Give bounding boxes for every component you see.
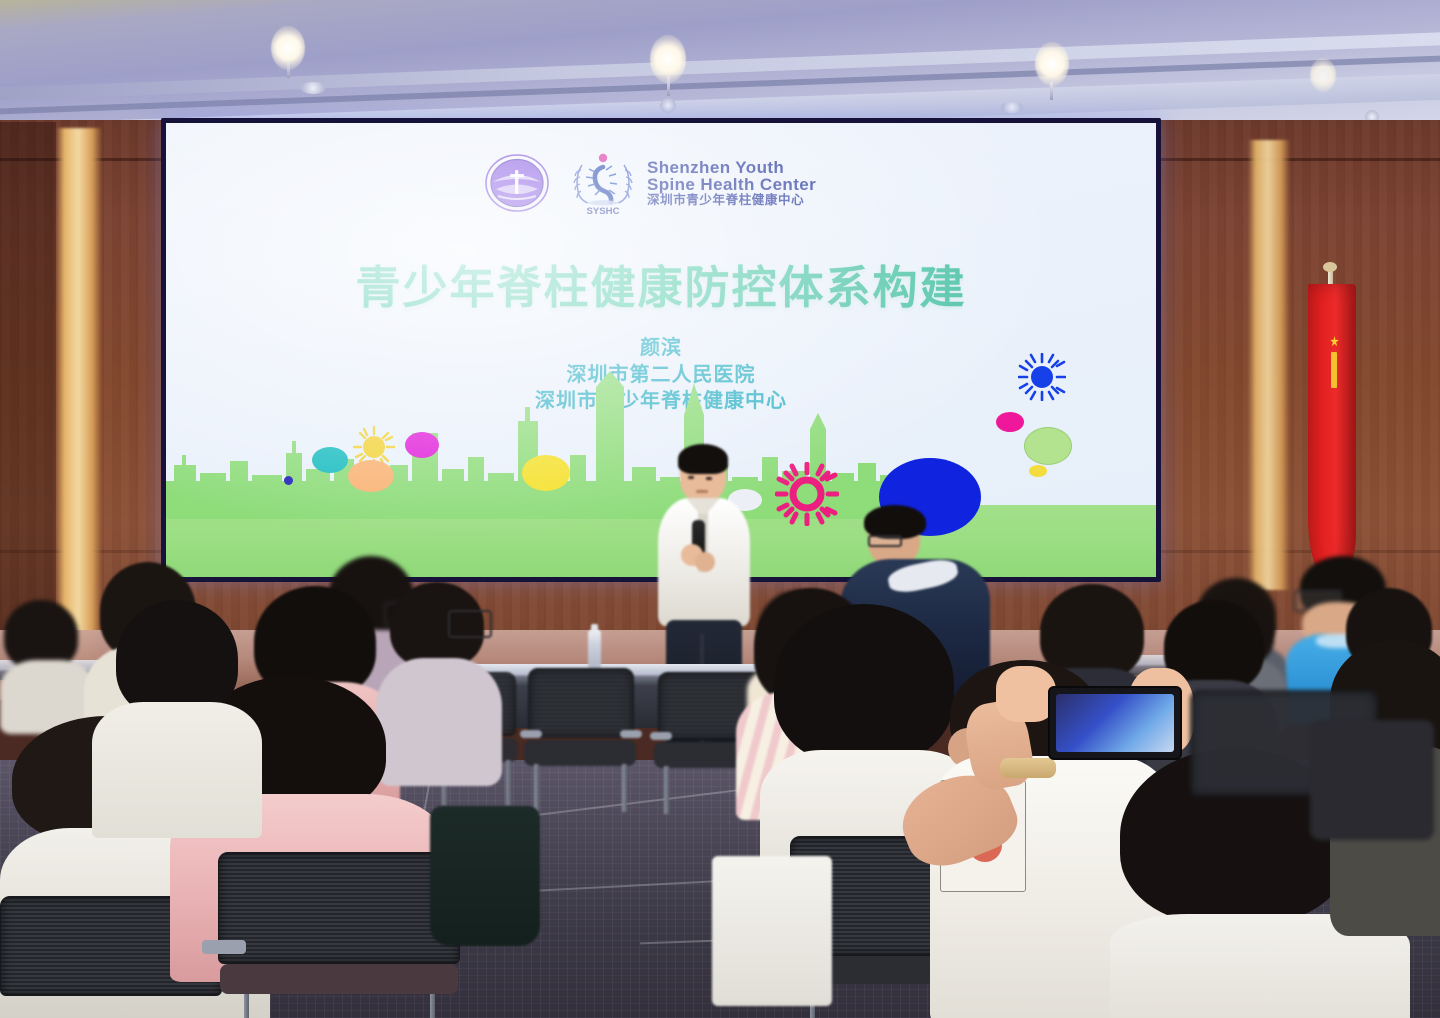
chair-leg-left xyxy=(534,764,539,812)
navy-jacket-glasses xyxy=(868,535,902,547)
ceiling-downlight-3 xyxy=(1035,42,1069,86)
glasses xyxy=(448,610,492,638)
ceiling-downlight-4 xyxy=(1310,58,1336,92)
conference-photo: SYSHC Shenzhen Youth Spine Health Center… xyxy=(0,0,1440,1018)
deco-pink-burst-ring xyxy=(775,462,839,526)
syshc-name-en-line2: Spine Health Center xyxy=(647,176,816,193)
chair-arm-left xyxy=(650,732,672,740)
paper-bag xyxy=(712,856,832,1006)
ceiling xyxy=(0,0,1440,128)
downlight-stalk-2 xyxy=(667,76,670,96)
chair-back xyxy=(528,668,634,738)
presenter-name: 颜滨 xyxy=(166,335,1156,362)
chair-back xyxy=(218,852,460,964)
chair-leg-right xyxy=(506,760,511,806)
chair-seat xyxy=(524,740,636,766)
water-bottle-1 xyxy=(588,630,601,670)
deco-green-oval xyxy=(1024,427,1072,465)
slide-logo-row: SYSHC Shenzhen Youth Spine Health Center… xyxy=(484,151,816,215)
wall-light-strip-right xyxy=(1248,140,1290,590)
syshc-text-block: Shenzhen Youth Spine Health Center 深圳市青少… xyxy=(647,159,816,207)
flag-pole-finial xyxy=(1323,262,1337,272)
chair-leg-left xyxy=(664,766,669,814)
chinese-national-flag xyxy=(1308,284,1356,576)
flag-star-small-group xyxy=(1331,352,1337,388)
syshc-emblem-icon: SYSHC xyxy=(566,151,640,215)
phone-screen-preview[interactable] xyxy=(1056,694,1174,752)
chair-leg xyxy=(244,994,249,1018)
speaker-hand-right xyxy=(695,552,715,572)
chair-leg-right xyxy=(622,764,627,812)
downlight-stalk-3 xyxy=(1050,82,1053,100)
hair xyxy=(116,600,238,718)
speaker-eye-left xyxy=(688,476,694,479)
ceiling-downlight-small-3 xyxy=(1000,102,1024,113)
hair xyxy=(774,604,954,764)
syshc-name-en-line1: Shenzhen Youth xyxy=(647,159,816,176)
slide-title: 青少年脊柱健康防控体系构建 xyxy=(166,251,1156,316)
chair-arm-left xyxy=(520,730,542,738)
svg-text:SYSHC: SYSHC xyxy=(586,206,619,215)
deco-blue-sunburst xyxy=(1018,353,1066,401)
deco-orange-dot xyxy=(348,460,394,492)
deco-teal-dot xyxy=(312,447,348,473)
ceiling-downlight-small-1 xyxy=(300,82,326,94)
deco-navy-small-dot xyxy=(284,476,293,485)
deco-yellow-small xyxy=(1029,465,1047,477)
deco-yellow-blob xyxy=(522,455,570,491)
wall-shadow-left xyxy=(0,122,56,682)
downlight-stalk-1 xyxy=(287,62,290,78)
deco-magenta-oval xyxy=(996,412,1024,432)
torso xyxy=(92,702,262,838)
navy-jacket-hair xyxy=(864,505,926,539)
wrist-bracelet xyxy=(1000,758,1056,778)
bag-right xyxy=(1310,720,1434,840)
hospital-emblem-icon xyxy=(484,152,550,214)
chair-leg-2 xyxy=(430,994,435,1018)
empty-chair-1 xyxy=(520,668,640,813)
speaker-mouth xyxy=(696,490,708,493)
audience-far-3 xyxy=(0,600,96,730)
syshc-name-cn: 深圳市青少年脊柱健康中心 xyxy=(647,194,816,207)
chair-seat xyxy=(220,964,458,994)
speaker-hair xyxy=(678,444,728,474)
syshc-logo: SYSHC Shenzhen Youth Spine Health Center… xyxy=(566,151,816,215)
deco-magenta-dot xyxy=(405,432,439,458)
speaker-eye-right xyxy=(706,477,712,480)
chair-arm-right xyxy=(620,730,642,738)
chair-arm xyxy=(202,940,246,954)
backpack-on-floor xyxy=(430,806,540,946)
ceiling-downlight-small-2 xyxy=(660,98,676,113)
hand-left xyxy=(996,666,1056,722)
audience-near-white-blouse xyxy=(92,600,262,830)
